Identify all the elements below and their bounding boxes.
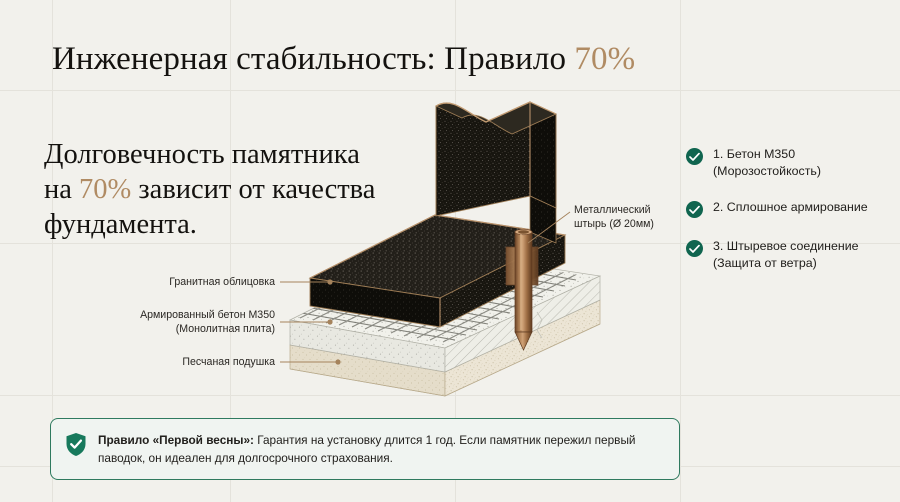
checklist-item[interactable]: 1. Бетон М350 (Морозостойкость) [686,146,891,179]
label-concrete-line-1: Армированный бетон М350 [20,308,275,322]
check-circle-icon [686,148,703,165]
subtitle-line-2-pre: на [44,174,79,205]
label-sand-cushion-text: Песчаная подушка [182,356,275,368]
subtitle-line-2-post: зависит от качества [131,174,375,205]
subtitle-line-1: Долговечность памятника [44,139,360,170]
infographic-page: Инженерная стабильность: Правило 70% Дол… [0,0,900,502]
label-granite-facing: Гранитная облицовка [20,275,275,289]
checklist-item-label: 1. Бетон М350 (Морозостойкость) [713,146,891,179]
subtitle: Долговечность памятника на 70% зависит о… [44,137,444,242]
page-title-text: Инженерная стабильность: Правило [52,41,574,77]
checklist-item[interactable]: 2. Сплошное армирование [686,199,891,218]
page-title: Инженерная стабильность: Правило 70% [52,38,635,80]
leader-dot [327,279,332,284]
label-metal-pin: Металлический штырь (Ø 20мм) [574,203,654,231]
callout-bold-prefix: Правило «Первой весны»: [98,433,254,447]
leader-dot [327,319,332,324]
label-reinforced-concrete: Армированный бетон М350 (Монолитная плит… [20,308,275,336]
granite-stele [436,102,556,216]
checklist-item-label: 3. Штыревое соединение (Защита от ветра) [713,238,891,271]
label-concrete-line-2: (Монолитная плита) [20,322,275,336]
label-sand-cushion: Песчаная подушка [20,355,275,369]
callout-text: Правило «Первой весны»: Гарантия на уста… [98,431,665,467]
page-title-accent: 70% [574,41,635,77]
first-spring-rule-callout: Правило «Первой весны»: Гарантия на уста… [50,418,680,480]
requirements-checklist: 1. Бетон М350 (Морозостойкость) 2. Сплош… [686,146,891,291]
subtitle-accent: 70% [79,174,131,205]
check-circle-icon [686,201,703,218]
label-metal-pin-line-1: Металлический [574,203,654,217]
checklist-item[interactable]: 3. Штыревое соединение (Защита от ветра) [686,238,891,271]
subtitle-line-3: фундамента. [44,209,197,240]
label-granite-facing-text: Гранитная облицовка [169,276,275,288]
label-metal-pin-line-2: штырь (Ø 20мм) [574,217,654,231]
leader-dot [335,359,340,364]
checklist-item-label: 2. Сплошное армирование [713,199,868,216]
shield-check-icon [65,432,87,462]
check-circle-icon [686,240,703,257]
